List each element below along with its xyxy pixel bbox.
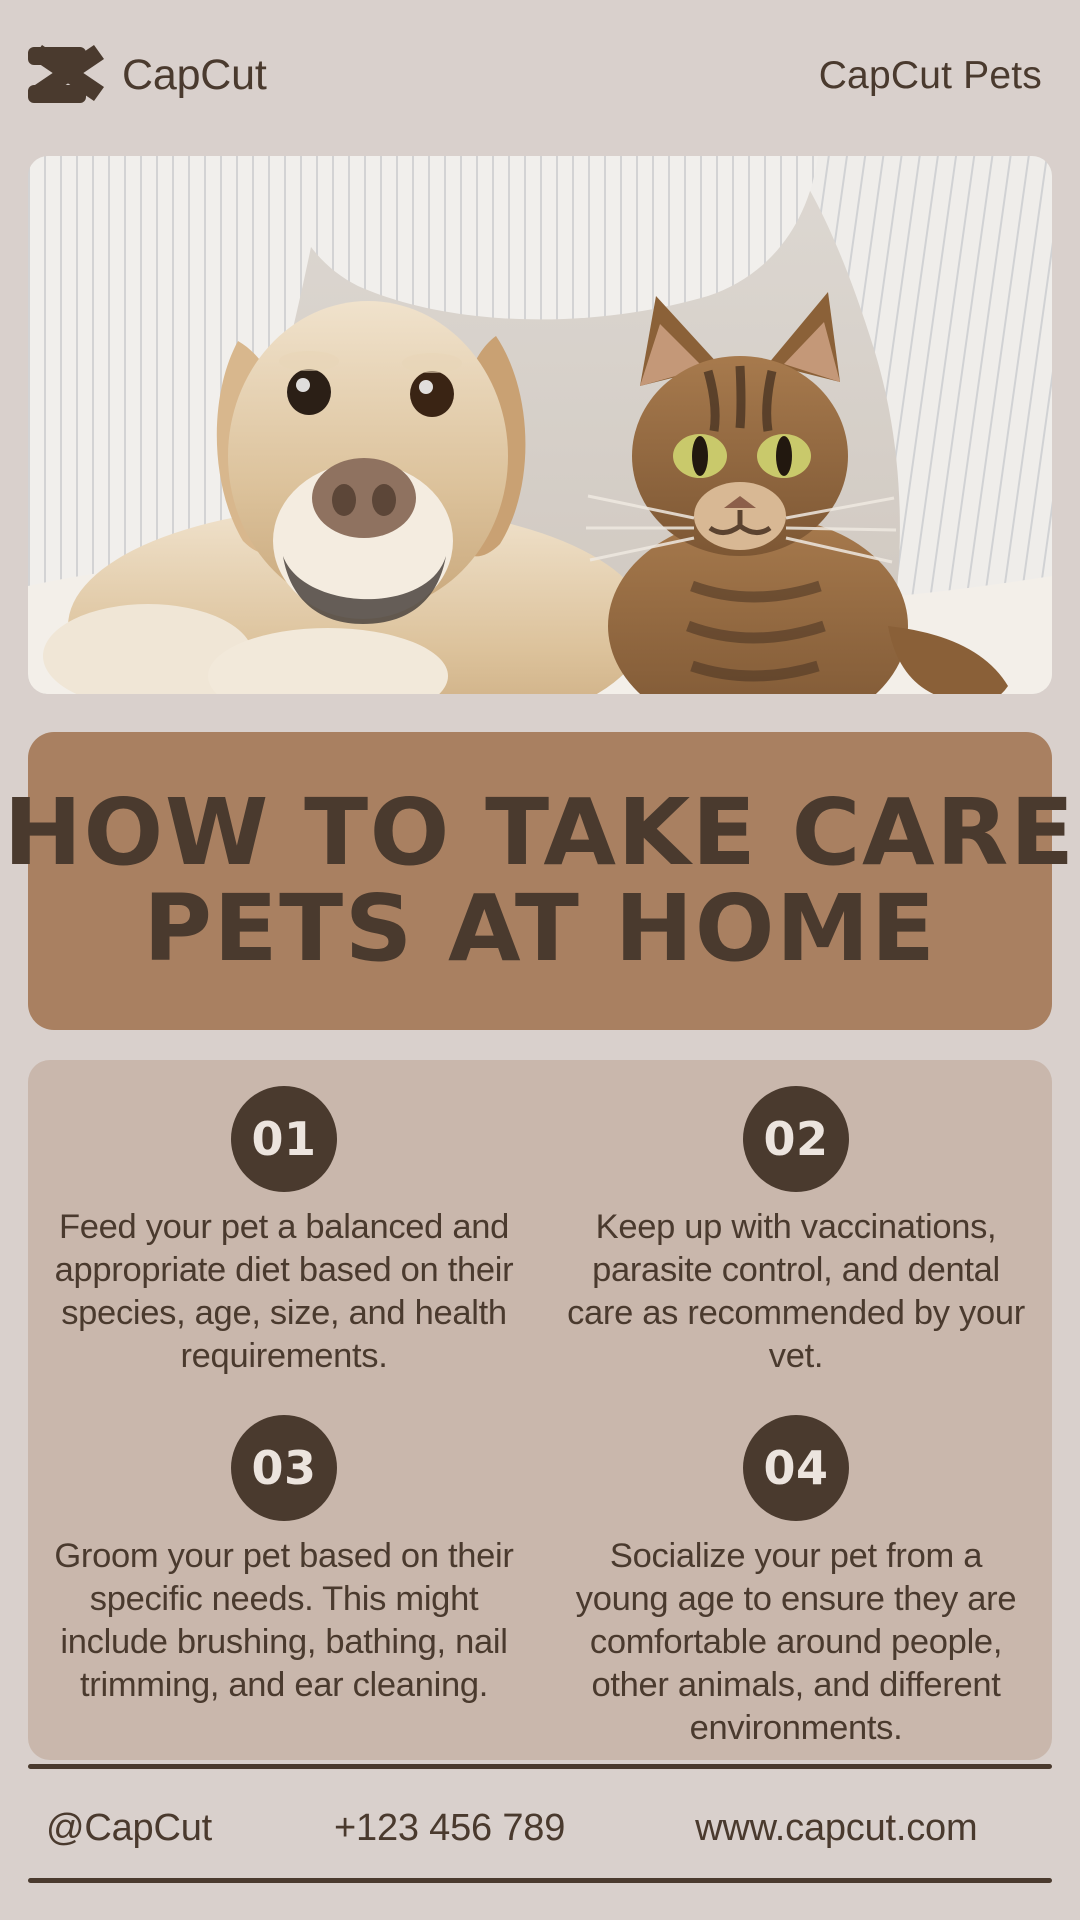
step-text-04: Socialize your pet from a young age to e… [562, 1535, 1030, 1751]
step-text-03: Groom your pet based on their specific n… [50, 1535, 518, 1708]
footer-social-handle[interactable]: @CapCut [46, 1809, 212, 1847]
step-item-02: 02 Keep up with vaccinations, parasite c… [540, 1060, 1052, 1389]
page-header: CapCut CapCut Pets [0, 0, 1080, 150]
header-right-label: CapCut Pets [819, 56, 1042, 95]
step-badge-03: 03 [231, 1415, 337, 1521]
step-text-02: Keep up with vaccinations, parasite cont… [562, 1206, 1030, 1379]
step-item-01: 01 Feed your pet a balanced and appropri… [28, 1060, 540, 1389]
footer-phone[interactable]: +123 456 789 [334, 1809, 565, 1847]
infographic-page: CapCut CapCut Pets [0, 0, 1080, 1920]
footer-divider-top [28, 1764, 1052, 1769]
brand[interactable]: CapCut [28, 41, 267, 109]
page-footer: @CapCut +123 456 789 www.capcut.com [28, 1776, 1052, 1880]
page-title-line-1: HOW TO TAKE CARE [4, 785, 1076, 881]
step-badge-01: 01 [231, 1086, 337, 1192]
footer-divider-bottom [28, 1878, 1052, 1883]
page-title-line-2: PETS AT HOME [143, 881, 936, 977]
step-item-04: 04 Socialize your pet from a young age t… [540, 1389, 1052, 1761]
footer-website[interactable]: www.capcut.com [695, 1809, 977, 1847]
step-text-01: Feed your pet a balanced and appropriate… [50, 1206, 518, 1379]
step-badge-04: 04 [743, 1415, 849, 1521]
capcut-logo-icon [28, 41, 106, 109]
step-badge-02: 02 [743, 1086, 849, 1192]
steps-panel: 01 Feed your pet a balanced and appropri… [28, 1060, 1052, 1760]
step-item-03: 03 Groom your pet based on their specifi… [28, 1389, 540, 1761]
title-banner: HOW TO TAKE CARE PETS AT HOME [28, 732, 1052, 1030]
brand-name: CapCut [122, 54, 267, 97]
hero-photo [28, 156, 1052, 694]
